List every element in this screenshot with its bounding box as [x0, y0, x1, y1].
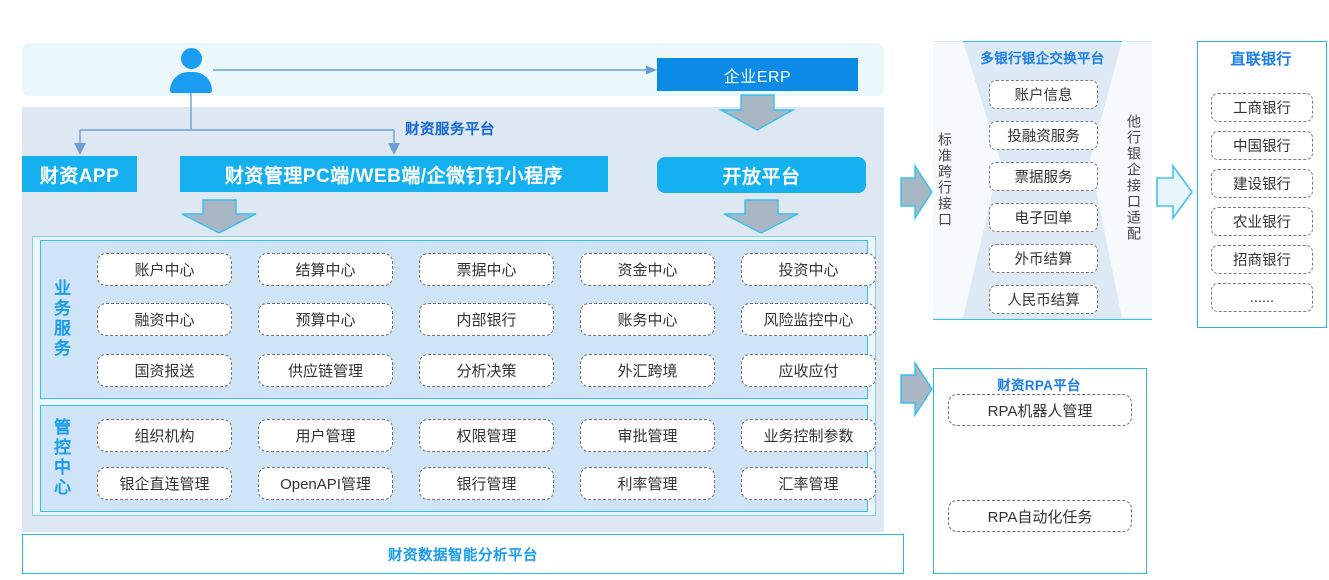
exchange-service-cell[interactable]: 票据服务: [989, 162, 1098, 191]
management-center-label: 管控中心: [52, 415, 69, 501]
standard-interface-label: 标准跨行接口: [937, 118, 953, 242]
business-service-cell[interactable]: 风险监控中心: [741, 303, 876, 336]
direct-banks-title: 直联银行: [1197, 48, 1325, 69]
business-service-cell[interactable]: 国资报送: [97, 354, 232, 387]
management-center-cell[interactable]: 业务控制参数: [741, 419, 876, 452]
exchange-service-cell[interactable]: 电子回单: [989, 203, 1098, 232]
business-service-cell[interactable]: 账务中心: [580, 303, 715, 336]
management-center-cell[interactable]: 审批管理: [580, 419, 715, 452]
management-center-cell[interactable]: 利率管理: [580, 467, 715, 500]
direct-bank-cell[interactable]: 农业银行: [1211, 207, 1313, 236]
service-platform-title: 财资服务平台: [405, 118, 495, 139]
finance-pc-web-box[interactable]: 财资管理PC端/WEB端/企微钉钉小程序: [180, 156, 608, 192]
other-bank-adapter-label: 他行银企接口适配: [1126, 88, 1142, 268]
management-center-cell[interactable]: 银行管理: [419, 467, 554, 500]
business-service-cell[interactable]: 供应链管理: [258, 354, 393, 387]
finance-app-box[interactable]: 财资APP: [22, 156, 137, 192]
rpa-item-cell[interactable]: RPA机器人管理: [948, 394, 1132, 426]
rpa-platform-title: 财资RPA平台: [933, 374, 1145, 394]
management-center-cell[interactable]: 银企直连管理: [97, 467, 232, 500]
direct-bank-cell[interactable]: 中国银行: [1211, 131, 1313, 160]
business-service-cell[interactable]: 投资中心: [741, 253, 876, 286]
exchange-service-cell[interactable]: 人民币结算: [989, 285, 1098, 314]
management-center-cell[interactable]: 汇率管理: [741, 467, 876, 500]
business-services-label: 业务服务: [52, 255, 69, 383]
enterprise-erp-box[interactable]: 企业ERP: [657, 58, 858, 91]
business-service-cell[interactable]: 内部银行: [419, 303, 554, 336]
business-service-cell[interactable]: 结算中心: [258, 253, 393, 286]
diagram-canvas: 企业ERP 财资服务平台 财资APP 财资管理PC端/WEB端/企微钉钉小程序 …: [0, 0, 1329, 580]
rpa-item-cell[interactable]: RPA自动化任务: [948, 500, 1132, 532]
data-analytics-bar[interactable]: 财资数据智能分析平台: [22, 534, 904, 574]
direct-bank-cell[interactable]: 工商银行: [1211, 93, 1313, 122]
open-platform-box[interactable]: 开放平台: [657, 157, 866, 193]
business-service-cell[interactable]: 账户中心: [97, 253, 232, 286]
business-service-cell[interactable]: 资金中心: [580, 253, 715, 286]
management-center-cell[interactable]: 组织机构: [97, 419, 232, 452]
exchange-service-cell[interactable]: 投融资服务: [989, 121, 1098, 150]
management-center-cell[interactable]: 权限管理: [419, 419, 554, 452]
management-center-cell[interactable]: 用户管理: [258, 419, 393, 452]
user-icon: [170, 48, 212, 93]
management-center-cell[interactable]: OpenAPI管理: [258, 467, 393, 500]
exchange-service-cell[interactable]: 外币结算: [989, 244, 1098, 273]
direct-bank-cell[interactable]: ......: [1211, 283, 1313, 312]
direct-bank-cell[interactable]: 建设银行: [1211, 169, 1313, 198]
business-service-cell[interactable]: 分析决策: [419, 354, 554, 387]
user-body-icon: [170, 72, 212, 93]
business-service-cell[interactable]: 票据中心: [419, 253, 554, 286]
business-service-cell[interactable]: 应收应付: [741, 354, 876, 387]
direct-bank-cell[interactable]: 招商银行: [1211, 245, 1313, 274]
exchange-service-cell[interactable]: 账户信息: [989, 80, 1098, 109]
user-head-icon: [181, 48, 202, 69]
business-service-cell[interactable]: 预算中心: [258, 303, 393, 336]
business-service-cell[interactable]: 融资中心: [97, 303, 232, 336]
bank-exchange-title: 多银行银企交换平台: [933, 47, 1152, 67]
business-service-cell[interactable]: 外汇跨境: [580, 354, 715, 387]
